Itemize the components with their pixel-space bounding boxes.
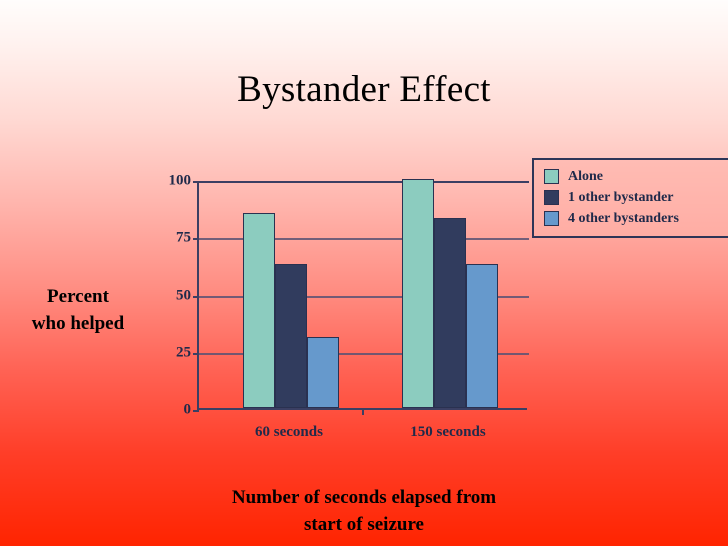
y-tick-mark-75 <box>193 238 199 240</box>
y-tick-mark-100 <box>193 181 199 183</box>
x-tick-label-60-seconds: 60 seconds <box>255 424 323 441</box>
y-axis-tick-labels: 100 75 50 25 0 <box>143 181 191 410</box>
y-axis-title-line-2: who helped <box>8 310 148 337</box>
y-axis-title: Percent who helped <box>8 283 148 337</box>
y-tick-mark-0 <box>193 410 199 412</box>
y-tick-label-0: 0 <box>145 402 191 419</box>
y-tick-label-50: 50 <box>145 287 191 304</box>
bar-60-seconds-4-other-bystanders <box>307 337 339 408</box>
legend-label-alone: Alone <box>568 169 603 185</box>
y-tick-mark-25 <box>193 353 199 355</box>
plot-area <box>197 181 527 410</box>
bar-60-seconds-1-other-bystander <box>275 264 307 408</box>
x-tick-mark-center <box>362 409 364 415</box>
x-axis-tick-labels: 60 seconds 150 seconds <box>197 424 527 448</box>
bar-chart: Percent who helped 100 75 50 25 0 60 sec… <box>0 0 728 546</box>
y-tick-mark-50 <box>193 296 199 298</box>
x-axis-title: Number of seconds elapsed from start of … <box>114 484 614 538</box>
y-tick-label-100: 100 <box>145 173 191 190</box>
legend-swatch-alone <box>544 169 559 184</box>
y-tick-label-25: 25 <box>145 344 191 361</box>
bar-60-seconds-alone <box>243 213 275 408</box>
legend-swatch-4-other-bystanders <box>544 211 559 226</box>
bar-150-seconds-alone <box>402 179 434 408</box>
bar-150-seconds-4-other-bystanders <box>466 264 498 408</box>
legend-item-1-other-bystander: 1 other bystander <box>544 187 728 208</box>
legend-label-1-other-bystander: 1 other bystander <box>568 190 674 206</box>
x-tick-label-150-seconds: 150 seconds <box>410 424 485 441</box>
legend-item-alone: Alone <box>544 166 728 187</box>
legend-item-4-other-bystanders: 4 other bystanders <box>544 208 728 229</box>
legend-label-4-other-bystanders: 4 other bystanders <box>568 211 679 227</box>
y-axis-title-line-1: Percent <box>8 283 148 310</box>
x-axis-title-line-2: start of seizure <box>114 511 614 538</box>
legend-swatch-1-other-bystander <box>544 190 559 205</box>
bar-150-seconds-1-other-bystander <box>434 218 466 408</box>
x-axis-title-line-1: Number of seconds elapsed from <box>114 484 614 511</box>
y-tick-label-75: 75 <box>145 230 191 247</box>
chart-legend: Alone 1 other bystander 4 other bystande… <box>532 158 728 238</box>
gridline-100 <box>199 181 529 183</box>
